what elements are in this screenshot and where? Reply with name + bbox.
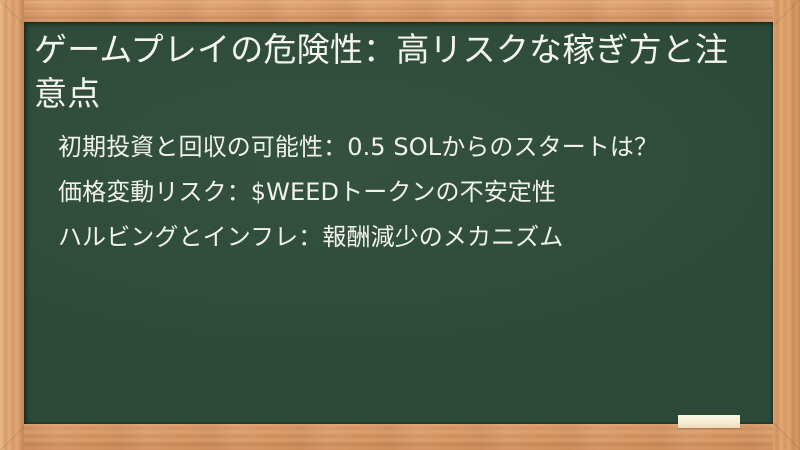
slide-bullet-item: ハルビングとインフレ：報酬減少のメカニズム [58, 222, 718, 253]
slide-title: ゲームプレイの危険性：高リスクな稼ぎ方と注意点 [34, 28, 734, 116]
frame-right-rail [773, 0, 800, 450]
frame-left-rail [0, 0, 24, 450]
chalkboard-surface: ゲームプレイの危険性：高リスクな稼ぎ方と注意点 初期投資と回収の可能性：0.5 … [24, 22, 773, 424]
chalkboard-content: ゲームプレイの危険性：高リスクな稼ぎ方と注意点 初期投資と回収の可能性：0.5 … [24, 22, 773, 424]
slide-bullet-list: 初期投資と回収の可能性：0.5 SOLからのスタートは？ 価格変動リスク：$WE… [34, 132, 755, 254]
chalk-stick-icon [678, 415, 740, 428]
frame-top-rail [0, 0, 800, 22]
slide-bullet-item: 初期投資と回収の可能性：0.5 SOLからのスタートは？ [58, 132, 718, 163]
slide-bullet-item: 価格変動リスク：$WEEDトークンの不安定性 [58, 177, 718, 208]
chalkboard-slide: ゲームプレイの危険性：高リスクな稼ぎ方と注意点 初期投資と回収の可能性：0.5 … [0, 0, 800, 450]
